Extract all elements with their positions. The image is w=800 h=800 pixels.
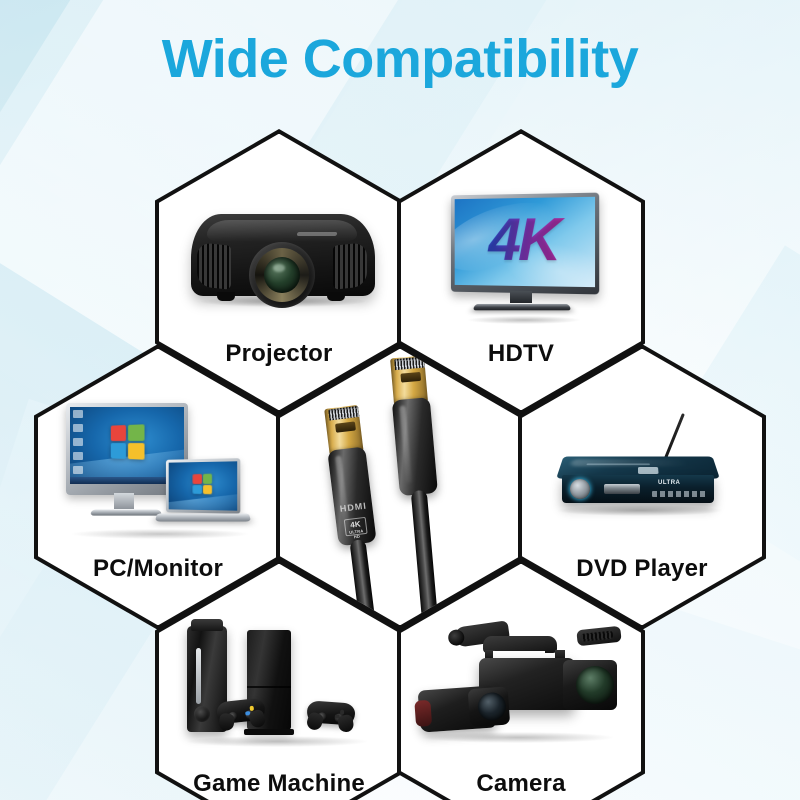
projector-lens-highlight: [273, 264, 285, 272]
gamepad-playstation: [306, 696, 356, 729]
hdmi-4k-badge: 4K ULTRA HD: [344, 516, 368, 536]
gamepad-xbox-grip-left: [218, 712, 235, 731]
dvd-front-panel: ULTRA: [562, 475, 714, 503]
hdmi-connector-right-highlight: [399, 405, 412, 483]
hdtv-screen-4k-text: 4K: [455, 200, 595, 278]
hdtv-icon: 4K: [401, 178, 641, 328]
infographic-canvas: Wide Compatibility: [0, 0, 800, 800]
console-xbox-power-ring: [194, 706, 210, 722]
camera-lens-small-glass: [477, 691, 507, 721]
dvd-player-icon: ULTRA: [522, 393, 762, 543]
laptop-keyboard-base: [155, 513, 251, 521]
dvd-format-badges: [652, 491, 708, 497]
projector-vent-left: [197, 242, 231, 290]
hdmi-connector-left-port: [335, 421, 356, 432]
monitor-stand-neck: [114, 493, 134, 509]
camera-microphone-grill: [581, 630, 614, 641]
dvd-group: ULTRA: [546, 409, 738, 531]
game-shadow: [187, 736, 367, 747]
camera-microphone: [576, 625, 621, 646]
camera-lens-small: [468, 686, 511, 727]
hdtv-stand-base: [472, 304, 571, 310]
projector-lens: [249, 242, 315, 308]
monitor-desktop-icons: [73, 410, 89, 480]
windows-logo-icon-small: [193, 473, 212, 494]
camera-small-grip-strap: [414, 699, 432, 726]
gamepad-xbox: [216, 693, 267, 728]
hex-label-hdtv: HDTV: [401, 340, 641, 368]
dvd-disc-slot: [604, 484, 640, 494]
camera-group: [413, 614, 629, 762]
hdmi-connector-right-shell: [392, 397, 438, 496]
video-camera-icon: [401, 608, 641, 758]
projector-brand-mark: [297, 232, 338, 236]
hex-label-projector: Projector: [159, 340, 399, 368]
projector-foot-left: [217, 292, 235, 301]
monitor-stand-base: [90, 509, 162, 515]
monitor-laptop-icon: [38, 393, 278, 543]
game-group: [181, 612, 379, 758]
camera-shadow: [423, 732, 613, 743]
hdmi-connector-left-shell: HDMI 4K ULTRA HD: [327, 446, 376, 546]
projector-vent-right: [333, 242, 367, 290]
laptop-group: [156, 459, 252, 533]
projector-lens-glass: [264, 257, 300, 293]
hdmi-cord-right: [411, 489, 442, 625]
hdmi-connector-left-pins: [328, 406, 359, 421]
hdtv-shadow: [468, 316, 580, 324]
hex-label-game-machine: Game Machine: [159, 770, 399, 798]
laptop-lid: [166, 458, 240, 514]
hdmi-connector-right-gold: [390, 355, 428, 404]
camera-body-small: [418, 685, 497, 732]
camera-lens-large-glass: [576, 666, 614, 704]
dvd-ultra-text: ULTRA: [658, 480, 680, 486]
hdmi-connector-right-pins: [394, 356, 425, 370]
camera-viewfinder-eyecup: [447, 628, 465, 646]
hdmi-connector-right-port: [400, 371, 421, 382]
console-xbox-disc-strip: [196, 648, 201, 704]
hex-label-camera: Camera: [401, 770, 641, 798]
hex-label-dvd-player: DVD Player: [522, 555, 762, 583]
camera-lens-large: [563, 660, 617, 710]
pc-group: [58, 403, 258, 545]
dvd-power-knob: [570, 479, 590, 499]
laptop-wallpaper-glow: [169, 492, 238, 511]
game-console-icon: [159, 608, 399, 758]
hdtv-screen: 4K: [455, 196, 595, 286]
hexagon-grid: Projector 4K: [0, 0, 800, 800]
hdtv-frame: 4K: [451, 192, 599, 294]
projector-sheen: [207, 220, 357, 242]
dvd-brand-mark: [586, 463, 649, 465]
projector-lens-ring: [255, 248, 309, 302]
console-playstation-stand: [244, 729, 294, 735]
hdtv-group: 4K: [448, 194, 598, 322]
hdmi-4k-badge-sub: ULTRA HD: [346, 527, 367, 539]
hdmi-connector-left: HDMI 4K ULTRA HD: [322, 404, 360, 409]
hdtv-stand-neck: [510, 291, 532, 303]
windows-logo-icon: [111, 424, 145, 459]
console-xbox-top-cap: [191, 619, 223, 631]
dvd-logo-plate: [638, 467, 659, 474]
projector-foot-right: [327, 292, 345, 301]
dvd-shadow: [558, 505, 722, 516]
laptop-screen: [169, 461, 238, 510]
console-playstation-seam: [247, 686, 291, 688]
projector-icon: [159, 178, 399, 328]
projector-body: [191, 214, 375, 296]
hex-label-pc-monitor: PC/Monitor: [38, 555, 278, 583]
page-title: Wide Compatibility: [0, 28, 800, 90]
